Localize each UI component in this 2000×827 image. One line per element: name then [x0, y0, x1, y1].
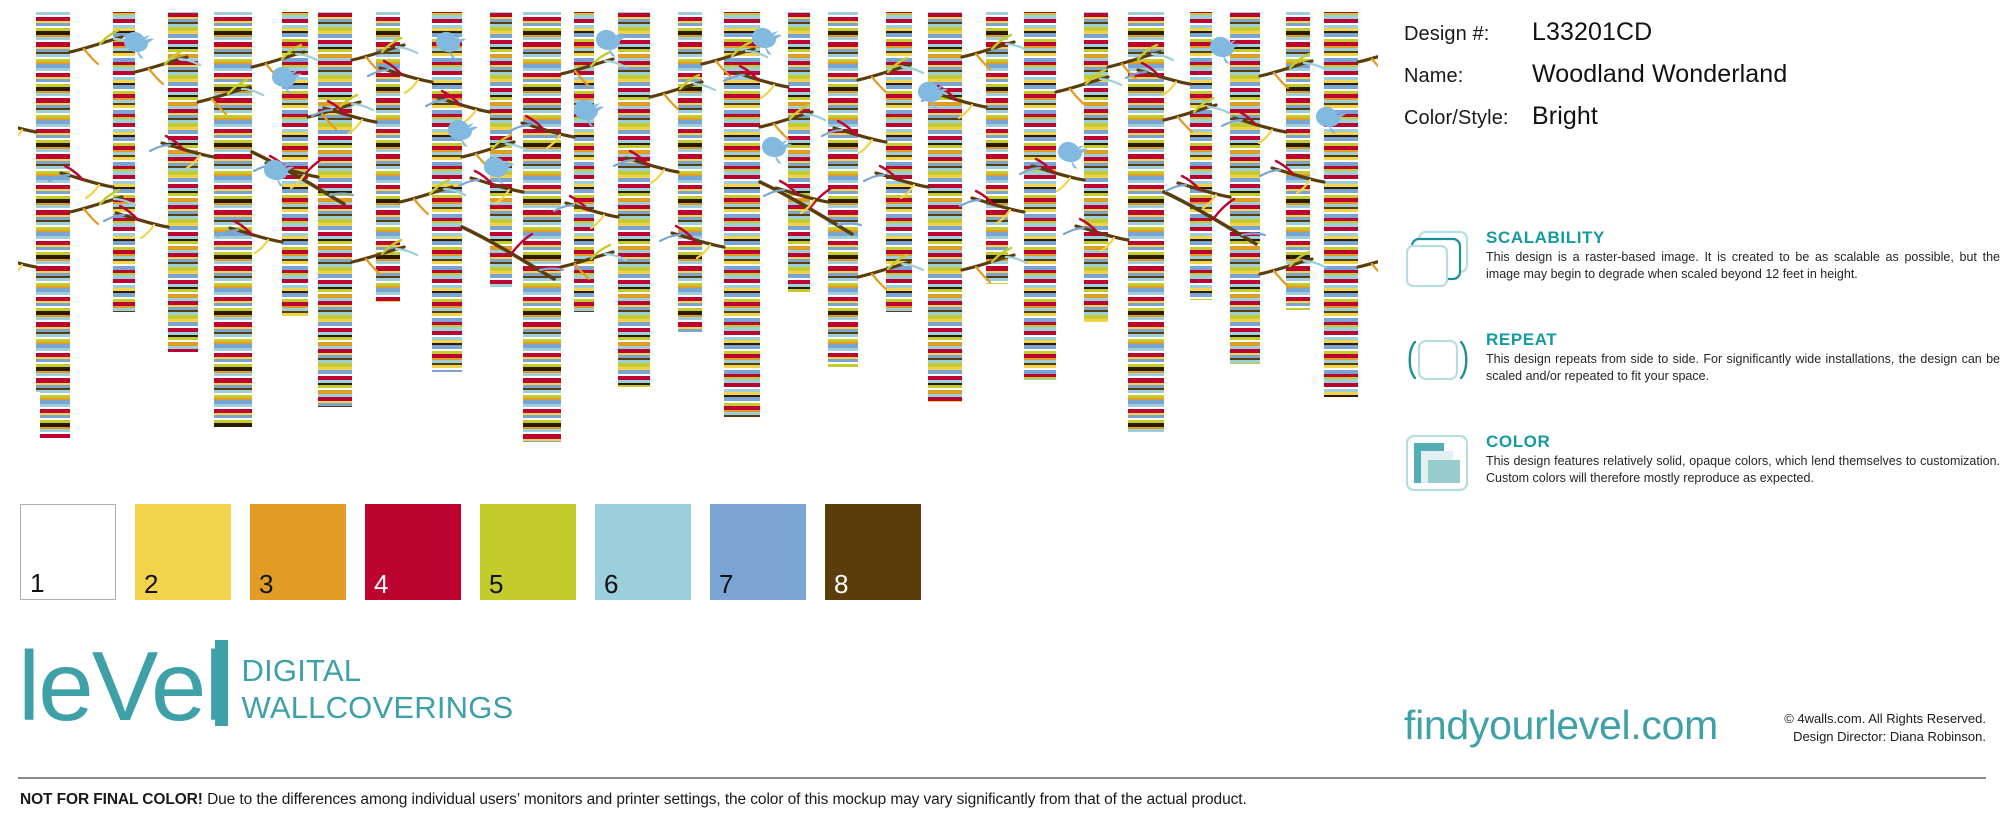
color-swatch-number-1: 1: [30, 570, 44, 596]
color-swatch-5[interactable]: 5: [480, 504, 576, 600]
woodland-wonderland-artwork: [18, 12, 1378, 477]
design-spec-header: Design #: L33201CD Name: Woodland Wonder…: [1404, 18, 1984, 144]
info-title-repeat: REPEAT: [1486, 331, 2000, 349]
spec-label-name: Name:: [1404, 65, 1532, 88]
spec-value-design-number: L33201CD: [1532, 18, 1652, 47]
spec-row-name: Name: Woodland Wonderland: [1404, 60, 1984, 89]
info-body-color: This design features relatively solid, o…: [1486, 453, 2000, 487]
design-artwork-preview: [18, 12, 1378, 477]
scalability-icon: [1404, 228, 1472, 290]
info-block-color: COLOR This design features relatively so…: [1404, 432, 2000, 494]
info-body-scalability: This design is a raster-based image. It …: [1486, 249, 2000, 283]
color-swatch-6[interactable]: 6: [595, 504, 691, 600]
color-swatch-number-7: 7: [719, 571, 733, 597]
footer-divider: [18, 777, 1986, 779]
color-swatch-1[interactable]: 1: [20, 504, 116, 600]
brand-wordmark: leVel: [18, 641, 225, 731]
brand-tagline-line2: WALLCOVERINGS: [242, 690, 514, 726]
color-swatch-8[interactable]: 8: [825, 504, 921, 600]
info-title-color: COLOR: [1486, 433, 2000, 451]
spec-value-name: Woodland Wonderland: [1532, 60, 1787, 89]
color-swatch-4[interactable]: 4: [365, 504, 461, 600]
info-block-scalability: SCALABILITY This design is a raster-base…: [1404, 228, 2000, 290]
color-swatch-number-4: 4: [374, 571, 388, 597]
disclaimer-body: Due to the differences among individual …: [207, 791, 1247, 808]
spec-row-design-number: Design #: L33201CD: [1404, 18, 1984, 47]
spec-value-color-style: Bright: [1532, 102, 1598, 131]
brand-tagline-line1: DIGITAL: [242, 653, 514, 689]
copyright-line-1: © 4walls.com. All Rights Reserved.: [1686, 710, 1986, 728]
color-swatch-number-8: 8: [834, 571, 848, 597]
info-block-repeat: REPEAT This design repeats from side to …: [1404, 330, 2000, 392]
spec-row-color-style: Color/Style: Bright: [1404, 102, 1984, 131]
color-swatch-palette: 1 2 3 4 5 6 7 8: [20, 504, 921, 600]
repeat-icon: [1404, 330, 1472, 392]
color-swatch-number-3: 3: [259, 571, 273, 597]
color-swatch-3[interactable]: 3: [250, 504, 346, 600]
brand-logo-lockup: leVel DIGITAL WALLCOVERINGS: [18, 640, 513, 731]
color-swatch-2[interactable]: 2: [135, 504, 231, 600]
info-title-scalability: SCALABILITY: [1486, 229, 2000, 247]
color-disclaimer: NOT FOR FINAL COLOR! Due to the differen…: [20, 791, 1247, 809]
disclaimer-heading: NOT FOR FINAL COLOR!: [20, 791, 203, 808]
info-body-repeat: This design repeats from side to side. F…: [1486, 351, 2000, 385]
color-swatch-number-2: 2: [144, 571, 158, 597]
website-url[interactable]: findyourlevel.com: [1404, 705, 1718, 746]
color-icon: [1404, 432, 1472, 494]
spec-label-color-style: Color/Style:: [1404, 107, 1532, 130]
design-attributes-panel: SCALABILITY This design is a raster-base…: [1404, 228, 2000, 534]
spec-label-design-number: Design #:: [1404, 23, 1532, 46]
color-swatch-7[interactable]: 7: [710, 504, 806, 600]
color-swatch-number-5: 5: [489, 571, 503, 597]
brand-tagline: DIGITAL WALLCOVERINGS: [242, 653, 514, 731]
color-swatch-number-6: 6: [604, 571, 618, 597]
copyright-line-2: Design Director: Diana Robinson.: [1686, 728, 1986, 746]
copyright-notice: © 4walls.com. All Rights Reserved. Desig…: [1686, 710, 1986, 746]
